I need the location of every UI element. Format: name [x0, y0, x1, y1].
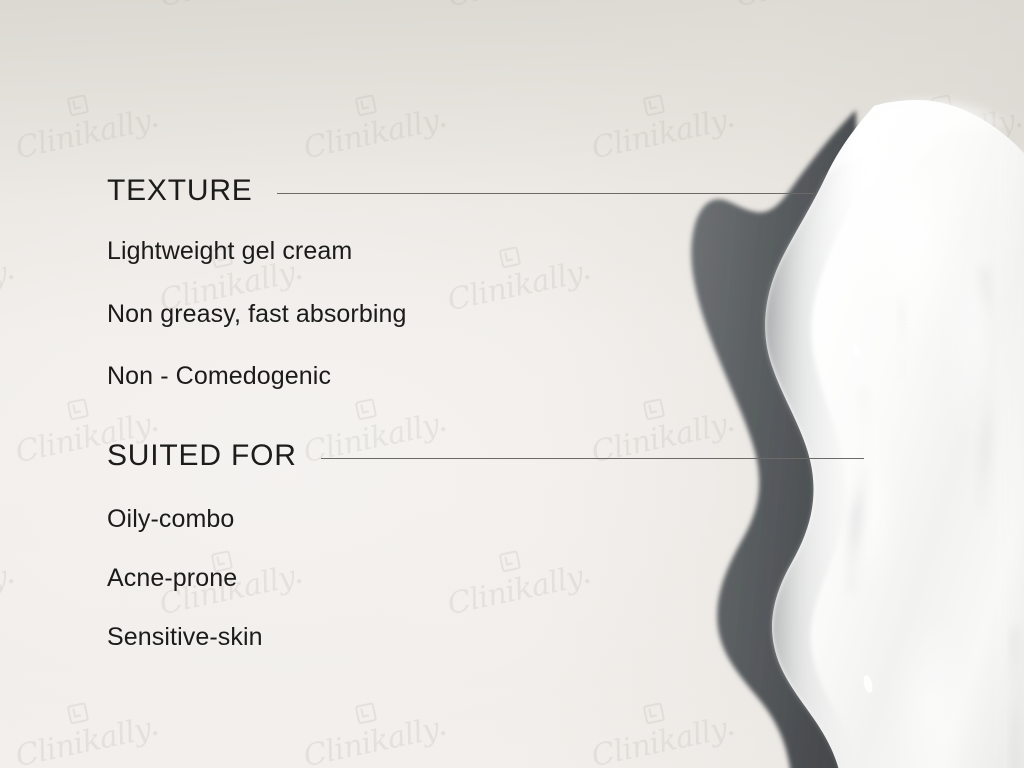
section-heading-suited-for: SUITED FOR	[107, 441, 864, 471]
section-heading-suited-for-rule	[321, 458, 864, 459]
product-texture-card: ClinikallyClinikallyClinikallyClinikally…	[0, 0, 1024, 768]
list-item: Oily-combo	[107, 507, 234, 532]
list-item: Non - Comedogenic	[107, 364, 331, 389]
list-item: Non greasy, fast absorbing	[107, 302, 407, 327]
list-item: Lightweight gel cream	[107, 239, 352, 264]
section-heading-texture: TEXTURE	[107, 176, 814, 206]
section-heading-texture-label: TEXTURE	[107, 176, 253, 206]
list-item: Sensitive-skin	[107, 625, 263, 650]
list-item: Acne-prone	[107, 566, 237, 591]
section-heading-suited-for-label: SUITED FOR	[107, 441, 297, 471]
card-content: TEXTURE Lightweight gel cream Non greasy…	[0, 0, 1024, 768]
section-heading-texture-rule	[277, 193, 814, 194]
